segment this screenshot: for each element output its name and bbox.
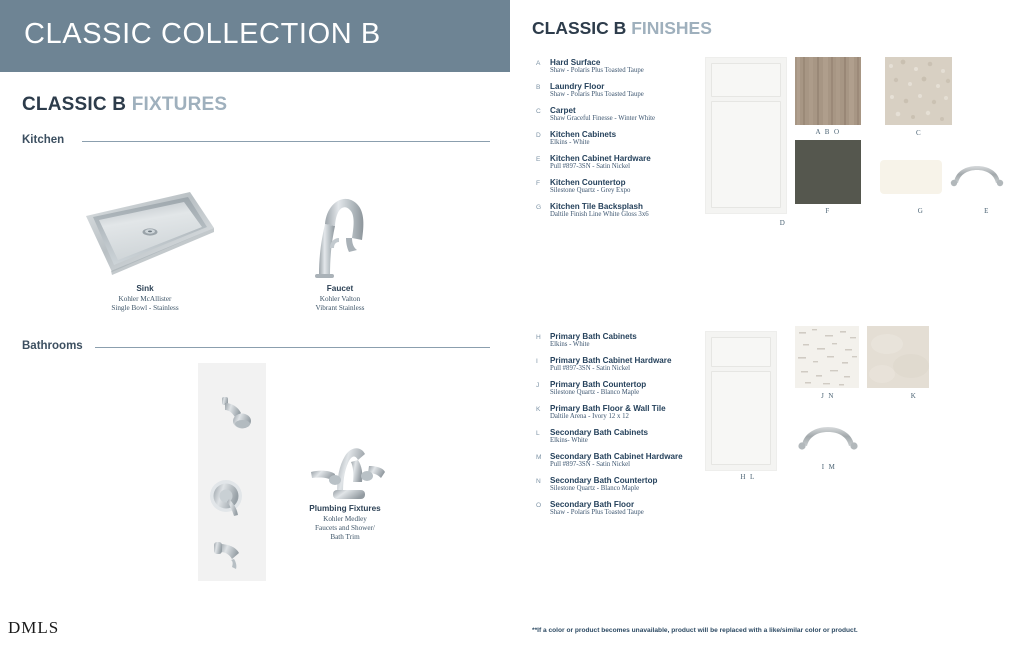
kitchen-finishes-list: AHard SurfaceShaw - Polaris Plus Toasted…: [536, 58, 701, 226]
bath-trim-panel: [198, 363, 266, 581]
faucet-sub1: Kohler Valton: [290, 295, 390, 304]
bath-trim-illustration: [198, 363, 266, 581]
finish-name: Primary Bath Countertop: [550, 380, 711, 389]
bath-countertop-swatch: [795, 326, 859, 388]
page-title: CLASSIC COLLECTION B: [24, 18, 381, 51]
bath-cabinet-swatch-label: H L: [730, 473, 766, 481]
finish-key: A: [536, 60, 541, 67]
faucet-image: [305, 180, 377, 280]
finish-name: Laundry Floor: [550, 82, 701, 91]
finish-key: J: [536, 382, 540, 389]
finish-key: M: [536, 454, 542, 461]
finish-item: OSecondary Bath FloorShaw - Polaris Plus…: [536, 500, 711, 517]
finish-name: Secondary Bath Cabinet Hardware: [550, 452, 711, 461]
finish-name: Kitchen Tile Backsplash: [550, 202, 701, 211]
finish-sub: Silestone Quartz - Blanco Maple: [550, 485, 711, 493]
faucet-caption: Faucet Kohler Valton Vibrant Stainless: [290, 284, 390, 313]
finish-item: LSecondary Bath CabinetsElkins- White: [536, 428, 711, 445]
finish-name: Kitchen Cabinet Hardware: [550, 154, 701, 163]
finish-key: H: [536, 334, 541, 341]
finishes-heading-bold: CLASSIC B: [532, 18, 626, 38]
bath-tile-swatch-label: K: [903, 392, 925, 400]
finish-item: HPrimary Bath CabinetsElkins - White: [536, 332, 711, 349]
kitchen-pull-swatch-label: E: [976, 207, 998, 215]
finishes-heading-light: FINISHES: [631, 18, 712, 38]
finish-item: DKitchen CabinetsElkins - White: [536, 130, 701, 147]
cabinet-pull-icon: [948, 160, 1006, 192]
finish-name: Primary Bath Cabinets: [550, 332, 711, 341]
bath-cabinet-pull-icon: [795, 420, 861, 456]
finish-item: CCarpetShaw Graceful Finesse - Winter Wh…: [536, 106, 701, 123]
finish-name: Kitchen Cabinets: [550, 130, 701, 139]
kitchen-section-header: Kitchen: [22, 134, 490, 148]
sink-caption: Sink Kohler McAllister Single Bowl - Sta…: [95, 284, 195, 313]
finish-key: G: [536, 204, 541, 211]
finish-name: Primary Bath Floor & Wall Tile: [550, 404, 711, 413]
bathrooms-label: Bathrooms: [22, 340, 91, 352]
faucet-name: Faucet: [290, 284, 390, 295]
finish-sub: Silestone Quartz - Grey Expo: [550, 187, 701, 195]
footer-disclaimer: **If a color or product becomes unavaila…: [532, 627, 858, 634]
bath-finishes-list: HPrimary Bath CabinetsElkins - WhiteIPri…: [536, 332, 711, 524]
finish-item: JPrimary Bath CountertopSilestone Quartz…: [536, 380, 711, 397]
backsplash-swatch: [880, 160, 942, 194]
bath-tile-swatch: [867, 326, 929, 388]
fixtures-heading-light: FIXTURES: [132, 94, 228, 115]
finish-item: IPrimary Bath Cabinet HardwarePull #897-…: [536, 356, 711, 373]
finish-name: Hard Surface: [550, 58, 701, 67]
finish-sub: Daltile Finish Line White Gloss 3x6: [550, 211, 701, 219]
faucet-illustration: [305, 180, 377, 280]
finish-sub: Elkins - White: [550, 139, 701, 147]
bath-countertop-swatch-label: J N: [810, 392, 846, 400]
faucet-sub2: Vibrant Stainless: [290, 304, 390, 313]
brand-logo: DMLS: [8, 618, 59, 638]
finish-key: F: [536, 180, 540, 187]
carpet-swatch-label: C: [908, 129, 930, 137]
finish-item: KPrimary Bath Floor & Wall TileDaltile A…: [536, 404, 711, 421]
sink-sub1: Kohler McAllister: [95, 295, 195, 304]
finishes-heading: CLASSIC B FINISHES: [532, 18, 712, 39]
finish-item: MSecondary Bath Cabinet HardwarePull #89…: [536, 452, 711, 469]
finish-key: K: [536, 406, 541, 413]
finish-name: Kitchen Countertop: [550, 178, 701, 187]
finish-item: NSecondary Bath CountertopSilestone Quar…: [536, 476, 711, 493]
fixtures-heading-bold: CLASSIC B: [22, 94, 126, 115]
finish-key: D: [536, 132, 541, 139]
finish-key: E: [536, 156, 541, 163]
finish-sub: Elkins - White: [550, 341, 711, 349]
kitchen-cabinet-swatch-label: D: [755, 219, 811, 227]
bath-pull-swatch: [795, 420, 861, 456]
bath-pull-swatch-label: I M: [812, 463, 846, 471]
finish-sub: Pull #897-3SN - Satin Nickel: [550, 365, 711, 373]
finish-item: AHard SurfaceShaw - Polaris Plus Toasted…: [536, 58, 701, 75]
finish-item: EKitchen Cabinet HardwarePull #897-3SN -…: [536, 154, 701, 171]
sink-sub2: Single Bowl - Stainless: [95, 304, 195, 313]
finish-name: Carpet: [550, 106, 701, 115]
finish-sub: Pull #897-3SN - Satin Nickel: [550, 461, 711, 469]
kitchen-countertop-swatch: [795, 140, 861, 204]
bathrooms-section-header: Bathrooms: [22, 340, 490, 354]
finish-item: GKitchen Tile BacksplashDaltile Finish L…: [536, 202, 701, 219]
finish-name: Secondary Bath Cabinets: [550, 428, 711, 437]
collection-sheet: CLASSIC COLLECTION B CLASSIC B FIXTURES …: [0, 0, 1020, 658]
kitchen-label: Kitchen: [22, 134, 72, 146]
finish-item: FKitchen CountertopSilestone Quartz - Gr…: [536, 178, 701, 195]
plumbing-fixtures-sub2: Faucets and Shower/: [295, 524, 395, 533]
sink-image: [78, 188, 218, 280]
fixtures-heading: CLASSIC B FIXTURES: [22, 94, 227, 116]
finish-key: B: [536, 84, 541, 91]
finish-sub: Shaw - Polaris Plus Toasted Taupe: [550, 91, 701, 99]
bath-faucet-illustration: [303, 432, 387, 504]
sink-illustration: [78, 188, 218, 280]
finish-key: O: [536, 502, 541, 509]
finish-key: I: [536, 358, 538, 365]
plumbing-fixtures-sub1: Kohler Medley: [295, 515, 395, 524]
sink-name: Sink: [95, 284, 195, 295]
carpet-texture: [885, 57, 952, 125]
finish-sub: Silestone Quartz - Blanco Maple: [550, 389, 711, 397]
finish-key: C: [536, 108, 541, 115]
bathrooms-divider: [95, 347, 490, 348]
finish-sub: Shaw Graceful Finesse - Winter White: [550, 115, 701, 123]
kitchen-pull-swatch: [948, 160, 1006, 192]
finish-sub: Shaw - Polaris Plus Toasted Taupe: [550, 67, 701, 75]
quartz-texture: [795, 326, 859, 388]
finish-item: BLaundry FloorShaw - Polaris Plus Toaste…: [536, 82, 701, 99]
bath-cabinet-swatch: [705, 331, 777, 471]
hard-surface-swatch-label: A B O: [805, 128, 851, 136]
lvp-texture: [795, 57, 861, 125]
finish-key: L: [536, 430, 540, 437]
finish-sub: Elkins- White: [550, 437, 711, 445]
finish-sub: Pull #897-3SN - Satin Nickel: [550, 163, 701, 171]
plumbing-fixtures-caption: Plumbing Fixtures Kohler Medley Faucets …: [295, 504, 395, 542]
bath-faucet-image: [303, 432, 387, 504]
hard-surface-swatch: [795, 57, 861, 125]
finish-key: N: [536, 478, 541, 485]
plumbing-fixtures-sub3: Bath Trim: [295, 533, 395, 542]
tile-texture: [867, 326, 929, 388]
kitchen-divider: [82, 141, 490, 142]
carpet-swatch: [885, 57, 952, 125]
hero-banner: CLASSIC COLLECTION B: [0, 0, 510, 72]
finish-name: Secondary Bath Countertop: [550, 476, 711, 485]
finish-sub: Shaw - Polaris Plus Toasted Taupe: [550, 509, 711, 517]
plumbing-fixtures-name: Plumbing Fixtures: [295, 504, 395, 515]
finish-name: Primary Bath Cabinet Hardware: [550, 356, 711, 365]
kitchen-countertop-swatch-label: F: [815, 207, 841, 215]
kitchen-cabinet-swatch: [705, 57, 787, 214]
finish-name: Secondary Bath Floor: [550, 500, 711, 509]
backsplash-swatch-label: G: [908, 207, 934, 215]
finish-sub: Daltile Arena - Ivory 12 x 12: [550, 413, 711, 421]
